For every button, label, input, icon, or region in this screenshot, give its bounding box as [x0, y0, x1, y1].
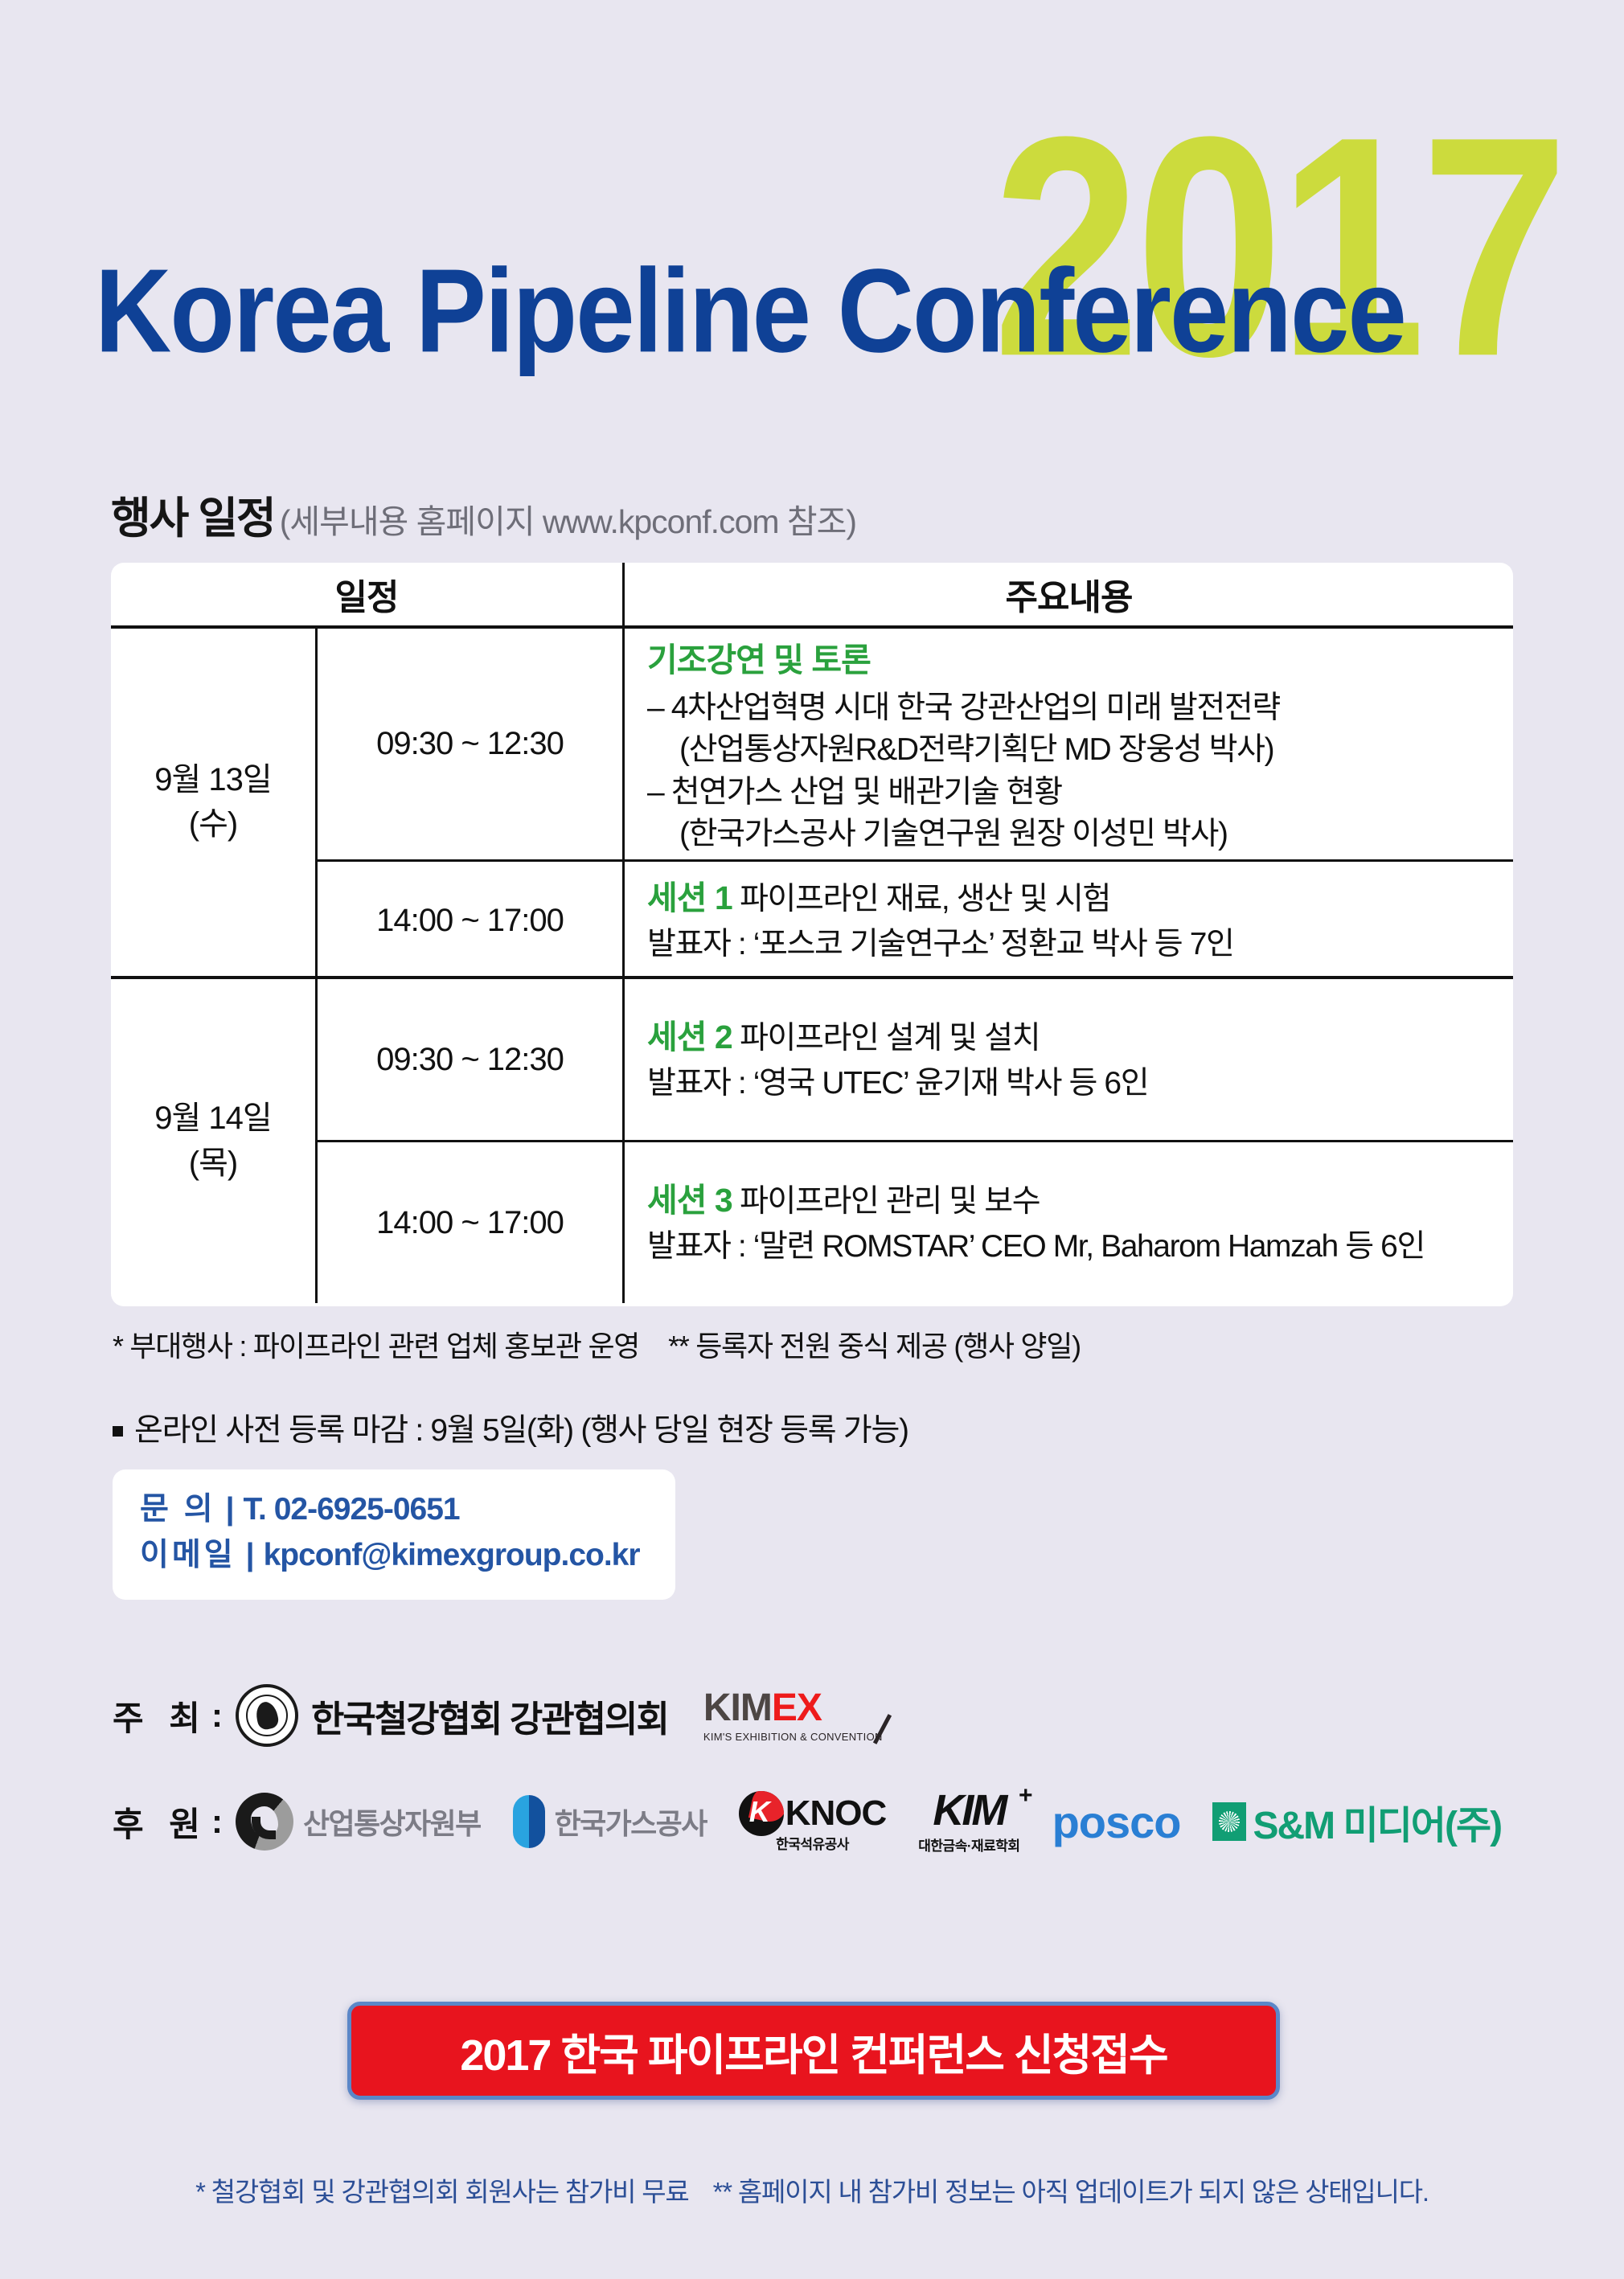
table-row: 9월 13일 (수) 09:30 ~ 12:30 기조강연 및 토론 – 4차산…	[111, 629, 1513, 979]
supporter-name-motie: 산업통상자원부	[303, 1801, 481, 1842]
table-row: 9월 14일 (목) 09:30 ~ 12:30 세션 2 파이프라인 설계 및…	[111, 979, 1513, 1303]
day-date-cell: 9월 13일 (수)	[111, 629, 318, 976]
session-topic: 파이프라인 재료, 생산 및 시험	[740, 882, 1110, 916]
kim-plus-icon: +	[1019, 1782, 1033, 1810]
posco-icon: posco	[1052, 1796, 1181, 1848]
keynote-line: – 천연가스 산업 및 배관기술 현황	[647, 772, 1500, 814]
session-row: 09:30 ~ 12:30 기조강연 및 토론 – 4차산업혁명 시대 한국 강…	[318, 629, 1513, 862]
organizer-name-kisa: 한국철강협회 강관협의회	[311, 1690, 668, 1742]
session-speaker: 발표자 : ‘영국 UTEC’ 윤기재 박사 등 6인	[647, 1061, 1500, 1105]
supporters-label: 후 원	[113, 1797, 208, 1847]
contact-email-value[interactable]: kpconf@kimexgroup.co.kr	[264, 1538, 640, 1572]
keynote-line: – 4차산업혁명 시대 한국 강관산업의 미래 발전전략	[647, 687, 1500, 729]
session-time: 09:30 ~ 12:30	[318, 629, 625, 859]
knoc-badge-icon: K	[739, 1791, 784, 1836]
session-content: 기조강연 및 토론 – 4차산업혁명 시대 한국 강관산업의 미래 발전전략 (…	[625, 629, 1513, 859]
kimex-logo-icon: KIMEX KIM'S EXHIBITION & CONVENTION	[703, 1689, 883, 1742]
session-speaker: 발표자 : ‘포스코 기술연구소’ 정환교 박사 등 7인	[647, 922, 1500, 966]
organizers-row: 주 최 : 한국철강협회 강관협의회 KIMEX KIM'S EXHIBITIO…	[113, 1684, 883, 1747]
kisa-seal-icon	[236, 1684, 298, 1747]
registration-deadline: 온라인 사전 등록 마감 : 9월 5일(화) (행사 당일 현장 등록 가능)	[113, 1405, 908, 1450]
column-header-schedule: 일정	[111, 563, 625, 625]
session-speaker: 발표자 : ‘말련 ROMSTAR’ CEO Mr, Baharom Hamza…	[647, 1224, 1500, 1269]
snm-media-icon: S&M 미디어(주)	[1212, 1793, 1501, 1850]
keynote-line: (한국가스공사 기술연구원 원장 이성민 박사)	[647, 814, 1500, 855]
session-content: 세션 1 파이프라인 재료, 생산 및 시험 발표자 : ‘포스코 기술연구소’…	[625, 862, 1513, 979]
session-content: 세션 3 파이프라인 관리 및 보수 발표자 : ‘말련 ROMSTAR’ CE…	[625, 1142, 1513, 1303]
contact-separator: |	[246, 1538, 254, 1572]
keynote-line: (산업통상자원R&D전략기획단 MD 장웅성 박사)	[647, 729, 1500, 771]
supporter-name-kogas: 한국가스공사	[555, 1801, 707, 1842]
kimex-logo-part2: EX	[772, 1687, 822, 1729]
poster-header: 2017 Korea Pipeline Conference	[0, 0, 1624, 434]
day-sessions: 09:30 ~ 12:30 기조강연 및 토론 – 4차산업혁명 시대 한국 강…	[318, 629, 1513, 976]
organizers-label: 주 최	[113, 1691, 208, 1740]
session-time: 14:00 ~ 17:00	[318, 1142, 625, 1303]
poster-footnote: * 철강협회 및 강관협의회 회원사는 참가비 무료** 홈페이지 내 참가비 …	[0, 2170, 1624, 2209]
table-footnotes: * 부대행사 : 파이프라인 관련 업체 홍보관 운영** 등록자 전원 중식 …	[113, 1323, 1081, 1365]
kimex-logo-part1: KIM	[703, 1687, 772, 1729]
organizers-colon: :	[211, 1696, 223, 1735]
contact-box: 문 의|T. 02-6925-0651 이메일|kpconf@kimexgrou…	[113, 1469, 675, 1600]
supporter-knoc: K KNOC 한국석유공사	[739, 1791, 887, 1853]
supporter-posco: posco	[1052, 1796, 1181, 1848]
schedule-heading-sub: (세부내용 홈페이지 www.kpconf.com 참조)	[280, 503, 856, 540]
knoc-icon: K KNOC 한국석유공사	[739, 1791, 887, 1853]
kim-icon: KIM + 대한금속·재료학회	[918, 1789, 1019, 1855]
session-row: 14:00 ~ 17:00 세션 1 파이프라인 재료, 생산 및 시험 발표자…	[318, 862, 1513, 979]
session-time: 14:00 ~ 17:00	[318, 862, 625, 979]
session-headline: 세션 2 파이프라인 설계 및 설치	[647, 1014, 1500, 1060]
page-title: Korea Pipeline Conference	[95, 252, 1405, 371]
day-sessions: 09:30 ~ 12:30 세션 2 파이프라인 설계 및 설치 발표자 : ‘…	[318, 979, 1513, 1303]
column-header-content: 주요내용	[625, 563, 1513, 625]
day-date-line2: (목)	[189, 1142, 237, 1186]
keynote-title: 기조강연 및 토론	[647, 633, 1500, 681]
footnote-part2: ** 홈페이지 내 참가비 정보는 아직 업데이트가 되지 않은 상태입니다.	[713, 2177, 1429, 2207]
knoc-logo-text: KNOC	[785, 1793, 887, 1834]
contact-phone-label: 문 의	[140, 1492, 216, 1527]
knoc-sub-text: 한국석유공사	[776, 1833, 849, 1853]
kim-logo-text: KIM	[933, 1789, 1005, 1832]
table-header-row: 일정 주요내용	[111, 563, 1513, 629]
kim-sub-text: 대한금속·재료학회	[918, 1834, 1019, 1855]
session-row: 09:30 ~ 12:30 세션 2 파이프라인 설계 및 설치 발표자 : ‘…	[318, 979, 1513, 1142]
supporters-colon: :	[211, 1802, 223, 1841]
day-date-line1: 9월 13일	[154, 758, 271, 802]
supporter-kim: KIM + 대한금속·재료학회	[918, 1789, 1019, 1855]
contact-separator: |	[226, 1492, 234, 1527]
kogas-icon	[513, 1795, 545, 1848]
session-headline: 세션 3 파이프라인 관리 및 보수	[647, 1177, 1500, 1224]
supporter-snm: S&M 미디어(주)	[1212, 1793, 1501, 1850]
contact-phone-value[interactable]: T. 02-6925-0651	[244, 1492, 460, 1527]
session-topic: 파이프라인 관리 및 보수	[740, 1184, 1040, 1219]
schedule-table: 일정 주요내용 9월 13일 (수) 09:30 ~ 12:30 기조강연 및 …	[111, 563, 1513, 1306]
note-side-event: * 부대행사 : 파이프라인 관련 업체 홍보관 운영	[113, 1330, 639, 1363]
session-topic: 파이프라인 설계 및 설치	[740, 1021, 1040, 1055]
session-tag: 세션 2	[647, 1019, 732, 1055]
square-bullet-icon	[113, 1426, 123, 1437]
session-row: 14:00 ~ 17:00 세션 3 파이프라인 관리 및 보수 발표자 : ‘…	[318, 1142, 1513, 1303]
register-button[interactable]: 2017 한국 파이프라인 컨퍼런스 신청접수	[347, 2002, 1280, 2100]
day-date-cell: 9월 14일 (목)	[111, 979, 318, 1303]
supporters-row: 후 원 : 산업통상자원부 한국가스공사 K KNOC 한국석유공사 KIM	[113, 1789, 1501, 1855]
session-tag: 세션 3	[647, 1182, 732, 1219]
session-tag: 세션 1	[647, 879, 732, 916]
note-lunch: ** 등록자 전원 중식 제공 (행사 양일)	[668, 1330, 1081, 1363]
supporter-kogas: 한국가스공사	[513, 1795, 707, 1848]
snm-mark-icon	[1212, 1802, 1246, 1841]
register-button-label: 2017 한국 파이프라인 컨퍼런스 신청접수	[460, 2019, 1167, 2083]
footnote-part1: * 철강협회 및 강관협의회 회원사는 참가비 무료	[195, 2177, 689, 2207]
registration-deadline-text: 온라인 사전 등록 마감 : 9월 5일(화) (행사 당일 현장 등록 가능)	[134, 1413, 908, 1448]
conference-poster: 2017 Korea Pipeline Conference 행사 일정(세부내…	[0, 0, 1624, 2279]
contact-phone-row: 문 의|T. 02-6925-0651	[140, 1487, 651, 1533]
supporter-motie: 산업통상자원부	[236, 1793, 481, 1851]
kimex-logo-tagline: KIM'S EXHIBITION & CONVENTION	[703, 1732, 883, 1742]
schedule-heading: 행사 일정(세부내용 홈페이지 www.kpconf.com 참조)	[111, 482, 856, 546]
session-content: 세션 2 파이프라인 설계 및 설치 발표자 : ‘영국 UTEC’ 윤기재 박…	[625, 979, 1513, 1140]
day-date-line1: 9월 14일	[154, 1096, 271, 1141]
snm-logo-text: S&M 미디어(주)	[1253, 1793, 1501, 1850]
session-time: 09:30 ~ 12:30	[318, 979, 625, 1140]
session-headline: 세션 1 파이프라인 재료, 생산 및 시험	[647, 875, 1500, 921]
contact-email-row: 이메일|kpconf@kimexgroup.co.kr	[140, 1533, 651, 1579]
schedule-heading-main: 행사 일정	[111, 494, 275, 543]
motie-taegeuk-icon	[236, 1793, 293, 1851]
day-date-line2: (수)	[189, 802, 237, 846]
contact-email-label: 이메일	[140, 1538, 236, 1572]
